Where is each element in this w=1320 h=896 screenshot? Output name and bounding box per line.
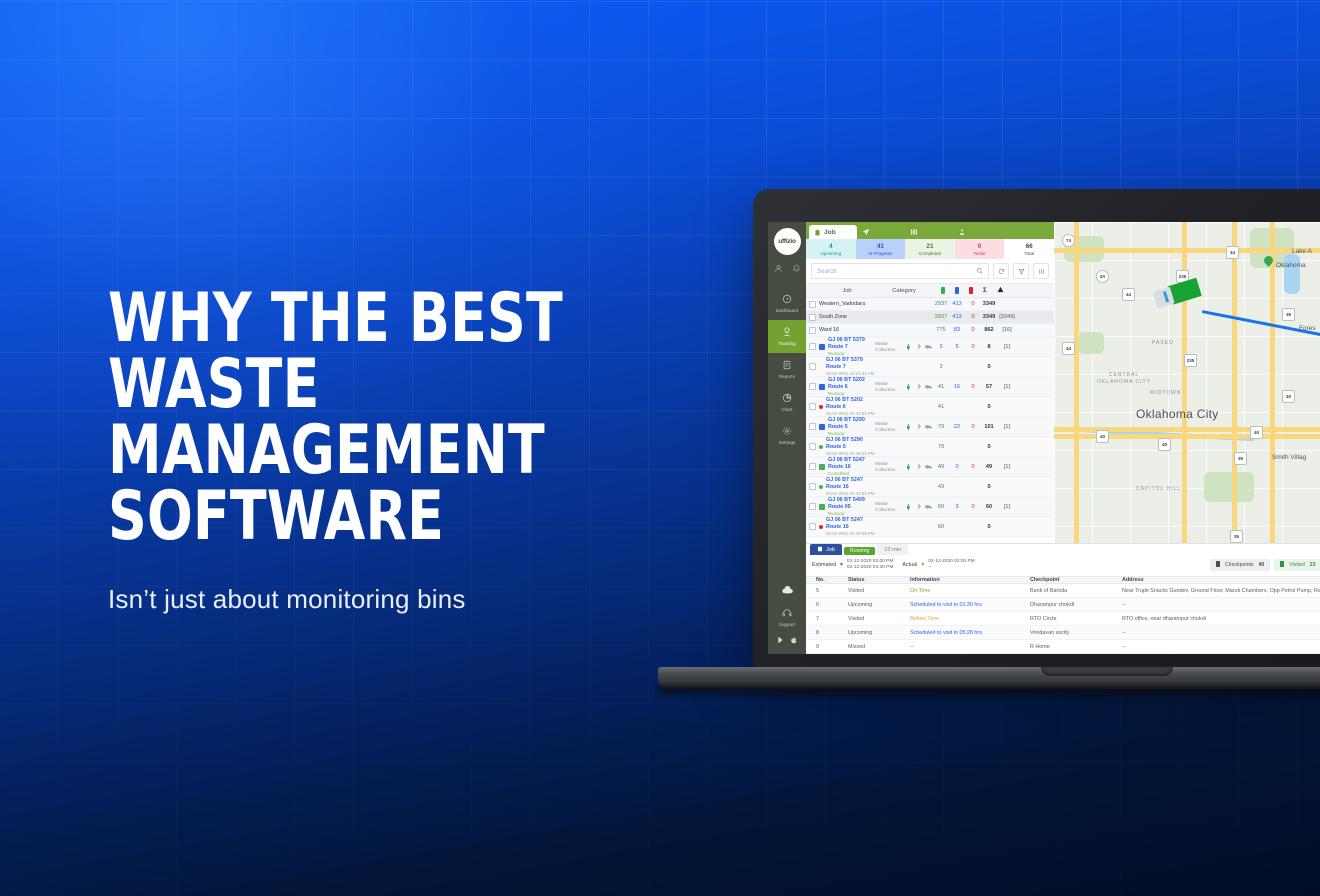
highway-shield: 35: [1282, 308, 1295, 321]
estimated-to: 02-12-2020 04:30 PM: [847, 565, 893, 571]
row-count-blue: 3: [949, 504, 965, 510]
bin-icon: [1280, 561, 1284, 569]
map-road: [1054, 248, 1320, 253]
map-park: [1204, 472, 1254, 502]
hero-banner: WHY THE BEST WASTE MANAGEMENT SOFTWARE I…: [0, 0, 1320, 896]
search-row: Search: [806, 259, 1054, 283]
stat-label: Ticket: [974, 251, 986, 256]
job-status-square: [819, 344, 825, 350]
actual-group: Actual ▼ 02-12-2020 02:00 PM --: [902, 559, 974, 572]
sidebar-item-label: Tracking: [778, 341, 795, 346]
table-row[interactable]: Western_Vadodara 2937 413 0 3349: [806, 298, 1054, 311]
row-count-green: 41: [933, 384, 949, 390]
table-header: Job Category Σ: [806, 283, 1054, 298]
row-count-green: 49: [933, 464, 949, 470]
row-checkbox[interactable]: [806, 343, 819, 350]
row-count-total: 60: [981, 504, 997, 510]
map-area-label: CENTRAL OKLAHOMA CITY: [1092, 372, 1156, 385]
row-count-red: 0: [965, 384, 981, 390]
legend-label: Checkpoints: [1225, 562, 1254, 568]
row-checkbox[interactable]: [806, 403, 819, 410]
row-job-name: GJ 06 BT 5290 Route 5: [828, 417, 875, 431]
report-doc-icon: [782, 360, 792, 372]
table-row[interactable]: GJ 06 BT 5247 Route 16 04-01-2021 02:43:…: [806, 477, 1054, 497]
detail-tab-job[interactable]: Job: [810, 544, 842, 555]
job-status-square: [819, 384, 825, 390]
row-count-green: 49: [933, 484, 949, 490]
search-input[interactable]: Search: [811, 263, 989, 279]
row-count-total: 0: [981, 444, 997, 450]
app-store-links: [777, 636, 798, 646]
checkpoint-row[interactable]: 8 Upcoming Scheduled to visit in 05:28 h…: [806, 626, 1320, 640]
row-job-cell: Ward 16: [819, 327, 875, 334]
row-checkbox[interactable]: [806, 463, 819, 470]
highway-shield: 44: [1062, 342, 1075, 355]
column-information: Information: [910, 577, 1030, 583]
chevron-down-icon[interactable]: ▼: [920, 562, 925, 568]
row-job-name: Ward 16: [819, 327, 839, 334]
checkpoint-status: Upcoming: [848, 602, 910, 608]
row-job-cell: GJ 06 BT 5379 Route 7 03-01-2021 10:24:4…: [819, 357, 875, 376]
stat-label: Total: [1024, 251, 1034, 256]
table-row[interactable]: GJ 06 BT 5247 Route 16 03-01-2021 02:40:…: [806, 517, 1054, 537]
table-row[interactable]: GJ 06 BT 5409 Route 05 Running Waste Col…: [806, 497, 1054, 517]
job-status-dot: [819, 485, 823, 489]
gear-icon: [782, 426, 792, 438]
row-job-cell: GJ 06 BT 5202 Route 6 Running: [819, 377, 875, 396]
checkpoint-address: --: [1122, 602, 1320, 608]
row-job-sub: 03-01-2021 02:45:30 PM: [826, 451, 875, 457]
row-job-cell: South Zone: [819, 314, 875, 321]
column-job[interactable]: Job: [819, 288, 875, 294]
row-category: Waste Collection: [875, 501, 905, 512]
row-job-sub: 03-01-2021 02:43:50 PM: [826, 411, 875, 417]
row-job-sub: Running: [828, 431, 875, 437]
map-place-label: Oklahoma: [1276, 262, 1306, 269]
row-checkbox[interactable]: [806, 314, 819, 321]
checkpoint-status: Visited: [848, 588, 910, 594]
sidebar-item-chart[interactable]: Chart: [768, 386, 806, 419]
table-row[interactable]: GJ 06 BT 5290 Route 5 03-01-2021 02:45:3…: [806, 437, 1054, 457]
stat-ticket[interactable]: 0 Ticket: [955, 239, 1005, 259]
sum-icon: Σ: [983, 288, 987, 294]
stat-in-progress[interactable]: 41 In-Progress: [856, 239, 906, 259]
checkpoint-no: 6: [806, 602, 848, 608]
actual-label: Actual: [902, 562, 917, 568]
row-checkbox[interactable]: [806, 523, 819, 530]
row-action-icons[interactable]: [905, 343, 933, 351]
map-area-label: CAPITOL HILL: [1136, 486, 1181, 492]
row-bracket: [16]: [997, 327, 1017, 333]
hero-copy: WHY THE BEST WASTE MANAGEMENT SOFTWARE I…: [108, 286, 728, 615]
map-road: [1270, 222, 1275, 552]
sidebar-item-reports[interactable]: Reports: [768, 353, 806, 386]
map-pin-marker[interactable]: [1264, 256, 1273, 268]
laptop-mockup: uffizio: [753, 189, 1320, 681]
row-job-sub: Running: [828, 511, 875, 517]
table-row[interactable]: GJ 06 BT 5202 Route 6 Running Waste Coll…: [806, 377, 1054, 397]
row-action-icons[interactable]: [905, 383, 933, 391]
sidebar-nav: Dashboard Tracking: [768, 287, 806, 452]
row-job-name: GJ 06 BT 5247 Route 16: [826, 477, 875, 491]
job-status-square: [819, 504, 825, 510]
highway-shield: 44: [1122, 288, 1135, 301]
map-road: [1232, 222, 1237, 552]
row-checkbox[interactable]: [806, 423, 819, 430]
checkpoint-information: --: [910, 644, 1030, 650]
sidebar-item-label: Dashboard: [776, 308, 798, 313]
row-job-name: Western_Vadodara: [819, 301, 865, 308]
legend-value: 40: [1258, 562, 1264, 568]
search-icon[interactable]: [976, 267, 983, 276]
highway-shield: 74: [1062, 234, 1075, 247]
row-checkbox[interactable]: [806, 301, 819, 308]
row-count-red: 0: [965, 327, 981, 333]
checkpoint-table-body[interactable]: 5 Visited On Time Bank of Baroda Near Tr…: [806, 584, 1320, 654]
table-row[interactable]: GJ 06 BT 5379 Route 7 Running Waste Coll…: [806, 337, 1054, 357]
tab-navigation[interactable]: [857, 225, 905, 239]
tab-driver[interactable]: [953, 225, 1001, 239]
row-job-sub: 03-01-2021 02:40:05 PM: [826, 531, 875, 537]
estimated-group: Estimated ▼ 02-12-2020 02:00 PM 02-12-20…: [812, 559, 893, 572]
row-count-red: 0: [965, 464, 981, 470]
columns-button[interactable]: [1033, 263, 1049, 279]
row-category: Waste Collection: [875, 381, 905, 392]
row-count-total: 8: [981, 344, 997, 350]
app-sidebar: uffizio: [768, 222, 806, 654]
sidebar-item-label: Support: [779, 622, 795, 627]
alert-icon: [997, 286, 1004, 295]
row-count-green: 60: [933, 524, 949, 530]
grid-icon: [910, 228, 918, 236]
headset-icon: [782, 608, 792, 620]
row-job-cell: GJ 06 BT 5202 Route 6 03-01-2021 02:43:5…: [819, 397, 875, 416]
table-row[interactable]: GJ 06 BT 5290 Route 5 Running Waste Coll…: [806, 417, 1054, 437]
row-bracket: [1]: [997, 344, 1017, 350]
app-topbar: Job: [806, 222, 1054, 239]
laptop-base-shadow: [658, 686, 1320, 700]
legend-value: 23: [1310, 562, 1316, 568]
checkpoint-name: Dharampur chokdi: [1030, 602, 1122, 608]
column-no: No.: [806, 577, 848, 583]
row-count-total: 101: [981, 424, 997, 430]
map-water: [1284, 254, 1300, 294]
checkpoint-status: Visited: [848, 616, 910, 622]
gauge-icon: [782, 294, 792, 306]
row-job-cell: GJ 06 BT 5290 Route 5 03-01-2021 02:45:3…: [819, 437, 875, 456]
row-count-red: 0: [965, 314, 981, 320]
row-job-cell: GJ 06 BT 5247 Route 16 03-01-2021 02:40:…: [819, 517, 875, 536]
page-title: WHY THE BEST WASTE MANAGEMENT SOFTWARE: [108, 286, 654, 550]
map-place-label: Smith Villag: [1272, 454, 1306, 461]
stat-label: In-Progress: [869, 251, 893, 256]
stat-label: Upcoming: [820, 251, 841, 256]
checkpoint-row[interactable]: 9 Missed -- R Home --: [806, 640, 1320, 654]
row-checkbox[interactable]: [806, 363, 819, 370]
row-count-green: 60: [933, 504, 949, 510]
row-count-total: 3349: [981, 301, 997, 307]
row-count-red: 0: [965, 344, 981, 350]
row-action-icons[interactable]: [905, 503, 933, 511]
checkpoint-legend: Checkpoints 40 Visited 23: [1210, 559, 1320, 571]
row-category: Waste Collection: [875, 341, 905, 352]
status-badge-running: Running: [844, 547, 875, 555]
row-job-name: GJ 06 BT 5290 Route 5: [826, 437, 875, 451]
checkpoint-row[interactable]: 5 Visited On Time Bank of Baroda Near Tr…: [806, 584, 1320, 598]
row-count-green: 775: [933, 327, 949, 333]
table-row[interactable]: GJ 06 BT 5379 Route 7 03-01-2021 10:24:4…: [806, 357, 1054, 377]
brand-logo[interactable]: uffizio: [774, 228, 801, 255]
job-tab-icon: [817, 546, 823, 554]
job-status-dot: [819, 445, 823, 449]
map-road: [1054, 434, 1320, 439]
checkpoint-no: 8: [806, 630, 848, 636]
highway-shield: 40: [1250, 426, 1263, 439]
row-count-green: 79: [933, 424, 949, 430]
row-checkbox[interactable]: [806, 443, 819, 450]
checkpoint-table-header: No. Status Information Checkpoint Addres…: [806, 576, 1320, 584]
duration-badge: 23 min: [877, 544, 908, 555]
stat-label: Completed: [919, 251, 941, 256]
row-checkbox[interactable]: [806, 327, 819, 334]
highway-shield: 40: [1158, 438, 1171, 451]
row-category: Waste Collection: [875, 421, 905, 432]
table-row[interactable]: GJ 06 BT 5247 Route 16 Completed Waste C…: [806, 457, 1054, 477]
sidebar-item-label: Chart: [781, 407, 792, 412]
row-count-blue: 16: [949, 384, 965, 390]
row-job-sub: 04-01-2021 02:43:50 PM: [826, 491, 875, 497]
sidebar-item-dashboard[interactable]: Dashboard: [768, 287, 806, 320]
checkpoint-status: Missed: [848, 644, 910, 650]
row-count-blue: 22: [949, 424, 965, 430]
stat-total[interactable]: 66 Total: [1004, 239, 1054, 259]
row-job-cell: Western_Vadodara: [819, 301, 875, 308]
row-job-name: South Zone: [819, 314, 847, 321]
row-bracket: [1]: [997, 384, 1017, 390]
row-count-green: 3: [933, 364, 949, 370]
checkpoint-information: Scheduled to visit in 05:28 hrs: [910, 630, 1030, 636]
highway-shield: 3A: [1096, 270, 1109, 283]
row-count-total: 3349: [981, 314, 997, 320]
map-place-label: Lake A: [1292, 248, 1312, 255]
tracking-pin-icon: [782, 327, 792, 339]
laptop-lid: uffizio: [753, 189, 1320, 667]
detail-tabs: Job Running 23 min: [806, 544, 1320, 555]
legend-visited[interactable]: Visited 23: [1274, 559, 1320, 571]
stat-value: 4: [829, 243, 833, 250]
row-count-green: 41: [933, 404, 949, 410]
checkpoint-information: On Time: [910, 588, 1030, 594]
column-address: Address: [1122, 577, 1320, 583]
sidebar-item-tracking[interactable]: Tracking: [768, 320, 806, 353]
highway-shield: 35: [1234, 452, 1247, 465]
play-store-icon[interactable]: [777, 636, 785, 646]
table-row[interactable]: GJ 06 BT 5202 Route 6 03-01-2021 02:43:5…: [806, 397, 1054, 417]
row-action-icons[interactable]: [905, 423, 933, 431]
row-count-total: 0: [981, 524, 997, 530]
row-count-total: 57: [981, 384, 997, 390]
search-placeholder: Search: [817, 268, 837, 275]
job-detail-panel: Job Running 23 min Estimated ▼ 02-12-202…: [806, 543, 1320, 654]
row-count-blue: 5: [949, 344, 965, 350]
apple-icon[interactable]: [790, 636, 798, 646]
row-job-name: GJ 06 BT 5379 Route 7: [828, 337, 875, 351]
highway-shield: 44: [1226, 246, 1239, 259]
row-bracket: [1]: [997, 504, 1017, 510]
navigation-arrow-icon: [862, 228, 870, 236]
checkpoint-status: Upcoming: [848, 630, 910, 636]
job-status-square: [819, 464, 825, 470]
sidebar-top-icons: [774, 264, 801, 275]
page-subtitle: Isn’t just about monitoring bins: [108, 550, 728, 615]
job-status-dot: [819, 405, 823, 409]
actual-to: --: [928, 565, 974, 571]
row-count-total: 0: [981, 484, 997, 490]
checkpoint-row[interactable]: 7 Visited Before Time RTO Circle RTO off…: [806, 612, 1320, 626]
row-job-sub: 03-01-2021 10:24:44 AM: [826, 371, 875, 377]
row-checkbox[interactable]: [806, 503, 819, 510]
stat-value: 21: [926, 243, 933, 250]
row-count-blue: 83: [949, 327, 965, 333]
bell-icon[interactable]: [792, 264, 801, 275]
checkpoint-no: 7: [806, 616, 848, 622]
pie-chart-icon: [782, 393, 792, 405]
row-count-green: 2937: [933, 314, 949, 320]
checkpoint-address: Near Trupti Snacks Gundev, Ground Floor,…: [1122, 588, 1320, 594]
row-job-cell: GJ 06 BT 5409 Route 05 Running: [819, 497, 875, 516]
stat-upcoming[interactable]: 4 Upcoming: [806, 239, 856, 259]
row-job-name: GJ 06 BT 5247 Route 16: [826, 517, 875, 531]
highway-shield: 235: [1184, 354, 1197, 367]
map-city-label: Oklahoma City: [1136, 407, 1219, 421]
map-road: [1074, 222, 1079, 552]
row-job-sub: Running: [828, 351, 875, 357]
row-job-name: GJ 06 BT 5202 Route 6: [826, 397, 875, 411]
row-action-icons[interactable]: [905, 463, 933, 471]
filter-button[interactable]: [1013, 263, 1029, 279]
tab-job[interactable]: Job: [809, 225, 857, 239]
column-icons: Σ: [933, 286, 1054, 295]
actual-dates: 02-12-2020 02:00 PM --: [928, 559, 974, 572]
row-count-green: 2937: [933, 301, 949, 307]
checkpoint-name: Bank of Baroda: [1030, 588, 1122, 594]
red-bin-icon: [969, 287, 973, 294]
checkpoint-address: --: [1122, 644, 1320, 650]
row-count-blue: 413: [949, 314, 965, 320]
row-checkbox[interactable]: [806, 383, 819, 390]
chevron-down-icon[interactable]: ▼: [839, 562, 844, 568]
row-bracket: [1]: [997, 424, 1017, 430]
user-icon[interactable]: [774, 264, 783, 275]
row-count-total: 862: [981, 327, 997, 333]
row-count-total: 0: [981, 364, 997, 370]
checkpoint-information: Before Time: [910, 616, 1030, 622]
column-status: Status: [848, 577, 910, 583]
laptop-screen: uffizio: [768, 222, 1320, 654]
row-count-green: 3: [933, 344, 949, 350]
map-area-label: PASEO: [1152, 340, 1174, 346]
row-job-sub: Running: [828, 391, 875, 397]
row-checkbox[interactable]: [806, 483, 819, 490]
stat-value: 66: [1026, 243, 1033, 250]
detail-tab-label: Job: [826, 547, 835, 553]
checkpoint-row[interactable]: 6 Upcoming Scheduled to visit in 01:30 h…: [806, 598, 1320, 612]
row-count-red: 0: [965, 301, 981, 307]
checkpoint-name: R Home: [1030, 644, 1122, 650]
row-job-cell: GJ 06 BT 5247 Route 16 Completed: [819, 457, 875, 476]
green-bin-icon: [941, 287, 945, 294]
table-row[interactable]: South Zone 2937 413 0 3349 [3349]: [806, 311, 1054, 324]
bin-icon: [1216, 561, 1220, 569]
job-status-square: [819, 424, 825, 430]
detail-summary-row: Estimated ▼ 02-12-2020 02:00 PM 02-12-20…: [806, 555, 1320, 576]
row-count-green: 79: [933, 444, 949, 450]
row-count-blue: 0: [949, 464, 965, 470]
estimated-label: Estimated: [812, 562, 836, 568]
stat-value: 41: [877, 243, 884, 250]
highway-shield: 35: [1230, 530, 1243, 543]
checkpoint-information: Scheduled to visit in 01:30 hrs: [910, 602, 1030, 608]
row-category: Waste Collection: [875, 461, 905, 472]
checkpoint-name: Vrindavan socity: [1030, 630, 1122, 636]
checkpoint-no: 9: [806, 644, 848, 650]
sidebar-item-settings[interactable]: Settings: [768, 419, 806, 452]
sidebar-item-label: Settings: [779, 440, 796, 445]
checkpoint-address: --: [1122, 630, 1320, 636]
map-park: [1078, 332, 1104, 354]
row-job-name: GJ 06 BT 5379 Route 7: [826, 357, 875, 371]
row-count-total: 49: [981, 464, 997, 470]
tracking-app: uffizio: [768, 222, 1320, 654]
row-job-name: GJ 06 BT 5202 Route 6: [828, 377, 875, 391]
row-bracket: [3349]: [997, 314, 1017, 320]
refresh-button[interactable]: [993, 263, 1009, 279]
row-job-cell: GJ 06 BT 5247 Route 16 04-01-2021 02:43:…: [819, 477, 875, 496]
table-row[interactable]: Ward 16 775 83 0 862 [16]: [806, 324, 1054, 337]
estimated-dates: 02-12-2020 02:00 PM 02-12-2020 04:30 PM: [847, 559, 893, 572]
row-job-sub: Completed: [828, 471, 875, 477]
row-count-total: 0: [981, 404, 997, 410]
sidebar-bottom: Support: [777, 584, 798, 654]
map-road: [1054, 427, 1320, 432]
legend-checkpoints[interactable]: Checkpoints 40: [1210, 559, 1270, 571]
clipboard-icon: [814, 229, 821, 236]
job-status-dot: [819, 365, 823, 369]
job-stats: 4 Upcoming 41 In-Progress 21 Completed: [806, 239, 1054, 259]
tab-job-label: Job: [824, 229, 836, 236]
blue-bin-icon: [955, 287, 959, 294]
job-status-dot: [819, 525, 823, 529]
stat-value: 0: [978, 243, 982, 250]
highway-shield: 40: [1282, 390, 1295, 403]
checkpoint-no: 5: [806, 588, 848, 594]
stat-completed[interactable]: 21 Completed: [905, 239, 955, 259]
row-count-red: 0: [965, 424, 981, 430]
row-job-name: GJ 06 BT 5409 Route 05: [828, 497, 875, 511]
sidebar-item-support[interactable]: Support: [777, 608, 798, 627]
cloud-download-icon[interactable]: [781, 584, 794, 599]
row-job-cell: GJ 06 BT 5290 Route 5 Running: [819, 417, 875, 436]
column-category[interactable]: Category: [875, 288, 933, 294]
row-job-cell: GJ 06 BT 5379 Route 7 Running: [819, 337, 875, 356]
map-area-label: MIDTOWN: [1150, 390, 1181, 396]
checkpoint-address: RTO office, near dharampur chokdi: [1122, 616, 1320, 622]
row-count-blue: 413: [949, 301, 965, 307]
tab-grid[interactable]: [905, 225, 953, 239]
checkpoint-name: RTO Circle: [1030, 616, 1122, 622]
person-pin-icon: [958, 228, 966, 236]
column-checkpoint: Checkpoint: [1030, 577, 1122, 583]
